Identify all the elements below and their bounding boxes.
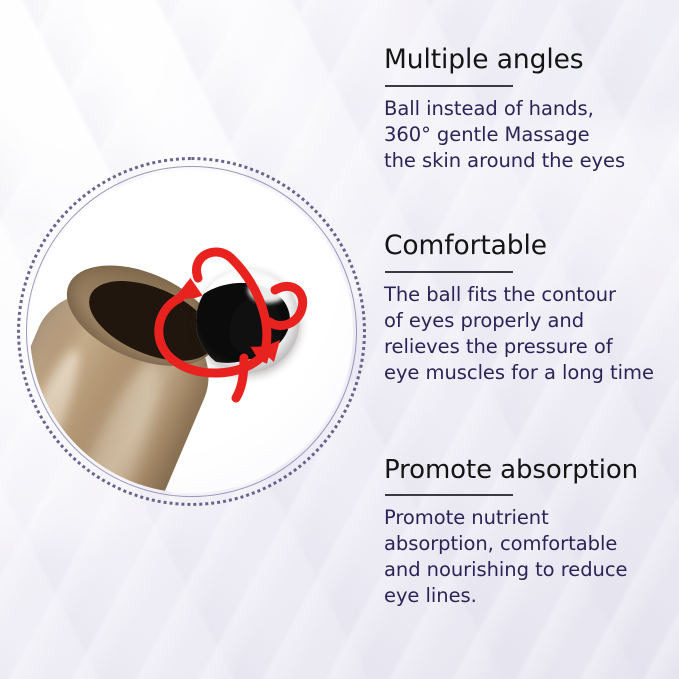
feature-body: Ball instead of hands, 360° gentle Massa… bbox=[384, 96, 666, 174]
feature-block-multiple-angles: Multiple angles Ball instead of hands, 3… bbox=[384, 46, 666, 174]
feature-body-line: Promote nutrient bbox=[384, 505, 666, 531]
product-feature-infographic: Multiple angles Ball instead of hands, 3… bbox=[0, 0, 679, 679]
feature-body-line: absorption, comfortable bbox=[384, 531, 666, 557]
feature-body: Promote nutrient absorption, comfortable… bbox=[384, 505, 666, 610]
rotation-arrows-icon bbox=[30, 170, 353, 493]
product-photo-disc bbox=[30, 170, 353, 493]
feature-body-line: The ball fits the contour bbox=[384, 282, 666, 308]
feature-body-line: eye muscles for a long time bbox=[384, 360, 666, 386]
feature-title: Comfortable bbox=[384, 232, 666, 261]
product-medallion bbox=[17, 157, 366, 506]
feature-body: The ball fits the contour of eyes proper… bbox=[384, 282, 666, 387]
feature-divider bbox=[385, 85, 513, 87]
feature-title: Multiple angles bbox=[384, 46, 666, 75]
feature-body-line: 360° gentle Massage bbox=[384, 122, 666, 148]
feature-divider bbox=[385, 494, 513, 496]
feature-body-line: eye lines. bbox=[384, 583, 666, 609]
feature-body-line: of eyes properly and bbox=[384, 308, 666, 334]
feature-body-line: Ball instead of hands, bbox=[384, 96, 666, 122]
feature-divider bbox=[385, 271, 513, 273]
feature-body-line: the skin around the eyes bbox=[384, 148, 666, 174]
feature-list: Multiple angles Ball instead of hands, 3… bbox=[384, 0, 666, 679]
feature-body-line: relieves the pressure of bbox=[384, 334, 666, 360]
feature-body-line: and nourishing to reduce bbox=[384, 557, 666, 583]
feature-block-promote-absorption: Promote absorption Promote nutrient abso… bbox=[384, 456, 666, 610]
feature-block-comfortable: Comfortable The ball fits the contour of… bbox=[384, 232, 666, 386]
feature-title: Promote absorption bbox=[384, 456, 666, 484]
